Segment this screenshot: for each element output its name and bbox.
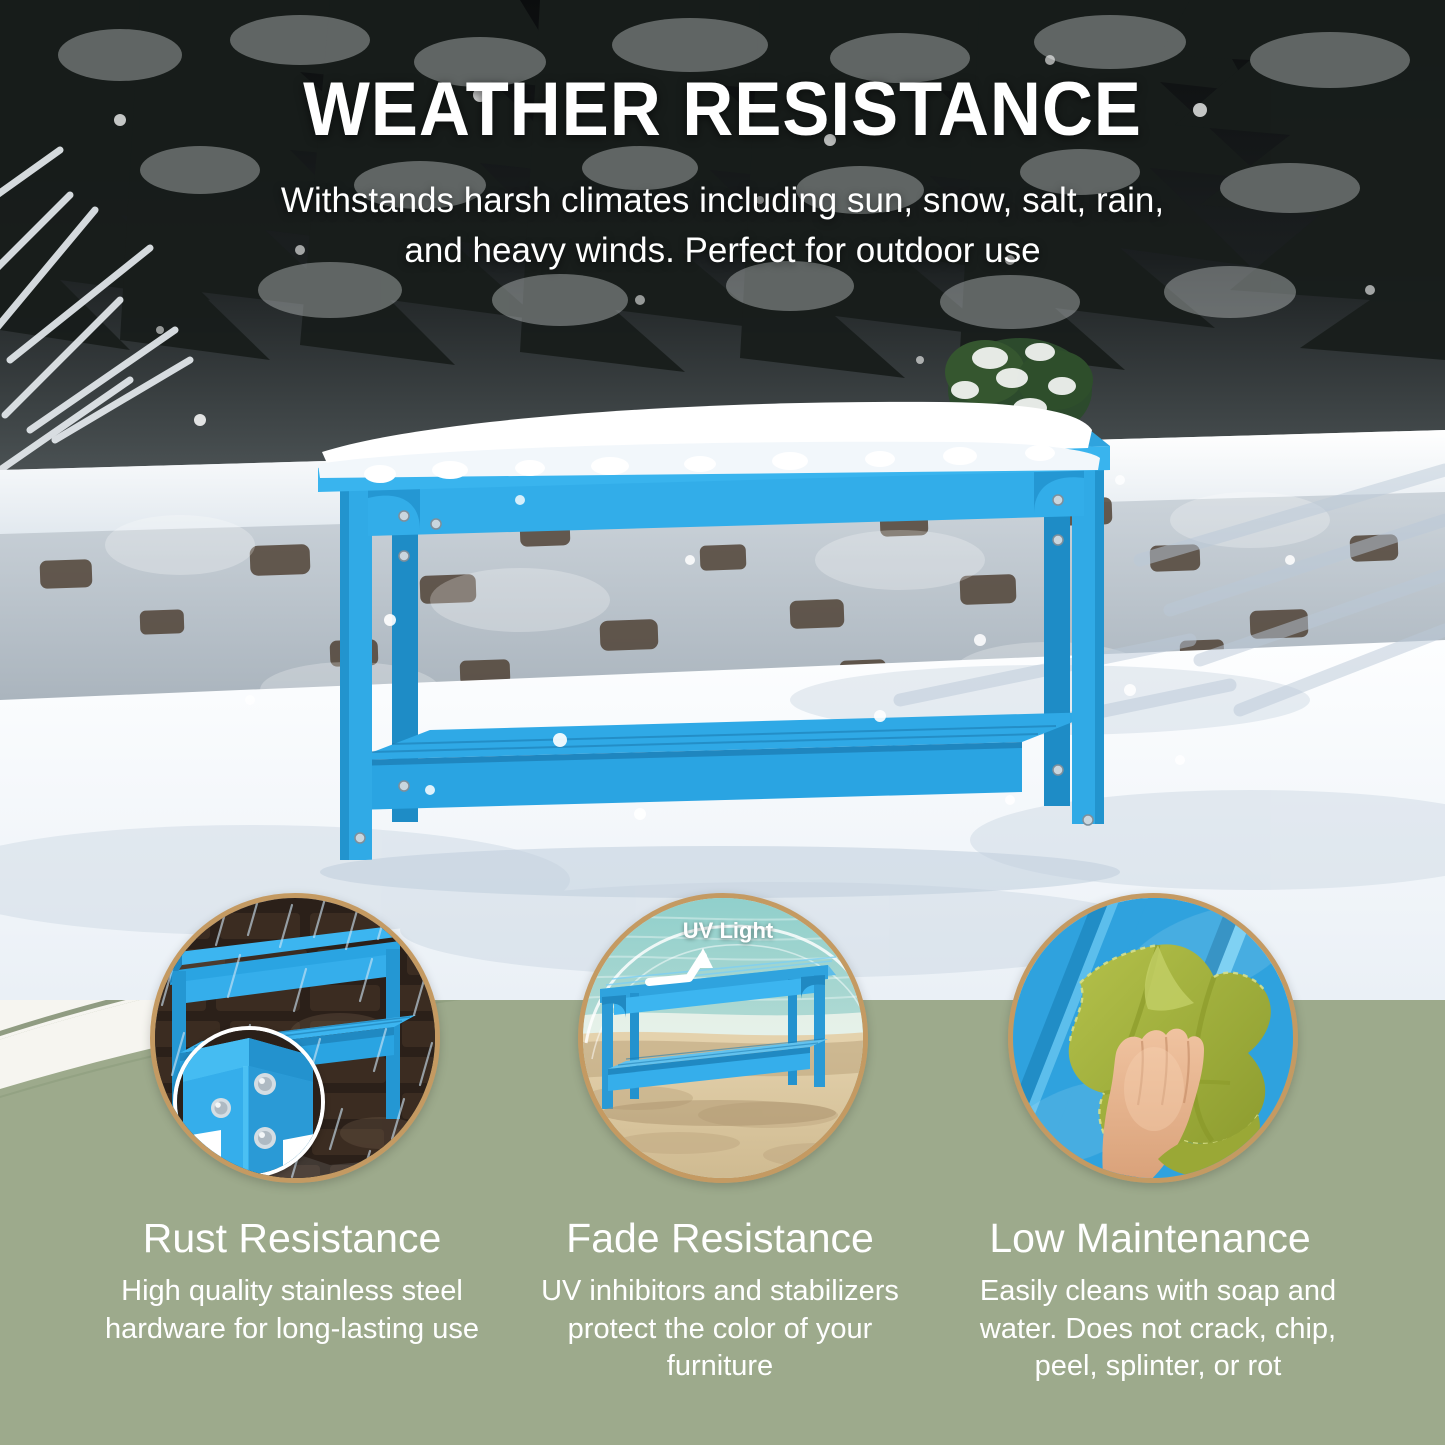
feature-body-low-maintenance: Easily cleans with soap and water. Does … (948, 1273, 1368, 1386)
feature-image-low-maintenance (1008, 893, 1298, 1183)
inset-screw-detail-rust-resistance (173, 1026, 325, 1178)
beach-uv-illustration (578, 893, 868, 1183)
feature-image-fade-resistance: UV Light (578, 893, 868, 1183)
feature-title-fade-resistance: Fade Resistance (500, 1215, 940, 1262)
page-subtitle: Withstands harsh climates including sun,… (273, 176, 1173, 275)
feature-image-rust-resistance (150, 893, 440, 1183)
cleaning-cloth-illustration (1008, 893, 1298, 1183)
infographic-stage: WEATHER RESISTANCE Withstands harsh clim… (0, 0, 1445, 1445)
page-title: WEATHER RESISTANCE (51, 66, 1395, 153)
feature-body-rust-resistance: High quality stainless steel hardware fo… (92, 1273, 492, 1348)
feature-body-fade-resistance: UV inhibitors and stabilizers protect th… (520, 1273, 920, 1386)
feature-title-rust-resistance: Rust Resistance (72, 1215, 512, 1262)
stainless-screw-closeup (173, 1026, 325, 1178)
feature-title-low-maintenance: Low Maintenance (930, 1215, 1370, 1262)
uv-light-arrow-icon (643, 942, 763, 1002)
